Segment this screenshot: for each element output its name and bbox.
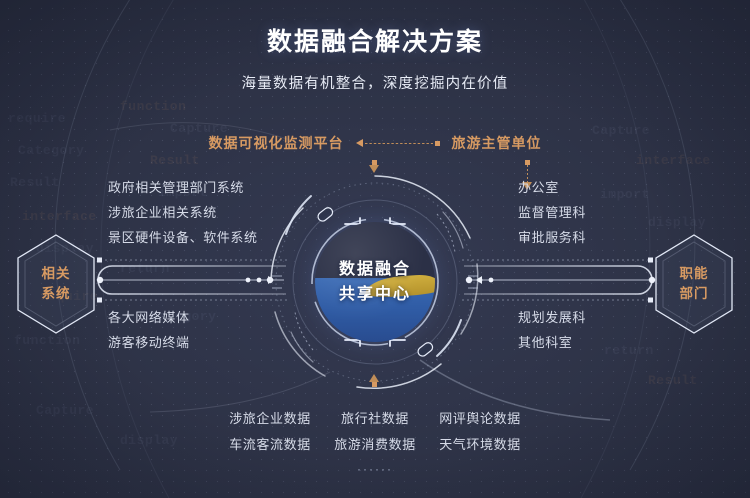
core-label: 数据融合 共享中心 (265, 172, 485, 392)
list-item: 游客移动终端 (108, 330, 190, 355)
hexagon-left-label: 相关 系统 (14, 232, 98, 336)
list-item: 政府相关管理部门系统 (108, 175, 258, 200)
hexagon-related-systems[interactable]: 相关 系统 (14, 232, 98, 336)
triangle-down-icon (369, 165, 379, 173)
marker-bottom-arrow (369, 374, 379, 387)
list-item: 其他科室 (518, 330, 586, 355)
list-item: 办公室 (518, 175, 586, 200)
core-line1: 数据融合 (339, 257, 411, 282)
table-row: 车流客流数据 旅游消费数据 天气环境数据 (218, 432, 533, 458)
list-item: 监督管理科 (518, 200, 586, 225)
hexagon-right-label: 职能 部门 (652, 232, 736, 336)
dotted-line (365, 143, 433, 144)
list-item: 审批服务科 (518, 225, 586, 250)
square-endpoint-icon (372, 382, 377, 387)
bottom-data-grid: 涉旅企业数据 旅行社数据 网评舆论数据 车流客流数据 旅游消费数据 天气环境数据… (0, 406, 750, 476)
page-subtitle: 海量数据有机整合，深度挖掘内在价值 (0, 72, 750, 93)
label-tourism-authority: 旅游主管单位 (452, 133, 542, 153)
hexagon-functional-departments[interactable]: 职能 部门 (652, 232, 736, 336)
ellipsis-indicator: ······ (357, 462, 393, 476)
data-fusion-core: 数据融合 共享中心 (265, 172, 485, 392)
core-line2: 共享中心 (339, 282, 411, 307)
marker-top-arrow (369, 160, 379, 173)
column-left-top: 政府相关管理部门系统 涉旅企业相关系统 景区硬件设备、软件系统 (108, 175, 258, 250)
page-title: 数据融合解决方案 (0, 22, 750, 58)
list-item: 景区硬件设备、软件系统 (108, 225, 258, 250)
header: 数据融合解决方案 海量数据有机整合，深度挖掘内在价值 (0, 22, 750, 93)
data-cell: 天气环境数据 (428, 432, 533, 458)
list-item: 涉旅企业相关系统 (108, 200, 258, 225)
list-item: 各大网络媒体 (108, 305, 190, 330)
data-cell: 旅游消费数据 (323, 432, 428, 458)
dotted-arrow-left-icon (356, 139, 440, 147)
data-cell: 网评舆论数据 (428, 406, 533, 432)
list-item: 规划发展科 (518, 305, 586, 330)
top-label-group: 数据可视化监测平台 旅游主管单位 (0, 133, 750, 153)
hex-right-line2: 部门 (680, 284, 709, 304)
data-cell: 车流客流数据 (218, 432, 323, 458)
triangle-up-icon (369, 374, 379, 382)
hex-left-line1: 相关 (42, 264, 71, 284)
square-endpoint-icon (435, 141, 440, 146)
data-cell: 旅行社数据 (323, 406, 428, 432)
hex-right-line1: 职能 (680, 264, 709, 284)
table-row: 涉旅企业数据 旅行社数据 网评舆论数据 (218, 406, 533, 432)
data-cell: 涉旅企业数据 (218, 406, 323, 432)
arrowhead-left-icon (356, 139, 363, 147)
column-left-bottom: 各大网络媒体 游客移动终端 (108, 305, 190, 355)
label-visualization-platform: 数据可视化监测平台 (209, 133, 344, 153)
column-right-top: 办公室 监督管理科 审批服务科 (518, 175, 586, 250)
hex-left-line2: 系统 (42, 284, 71, 304)
column-right-bottom: 规划发展科 其他科室 (518, 305, 586, 355)
